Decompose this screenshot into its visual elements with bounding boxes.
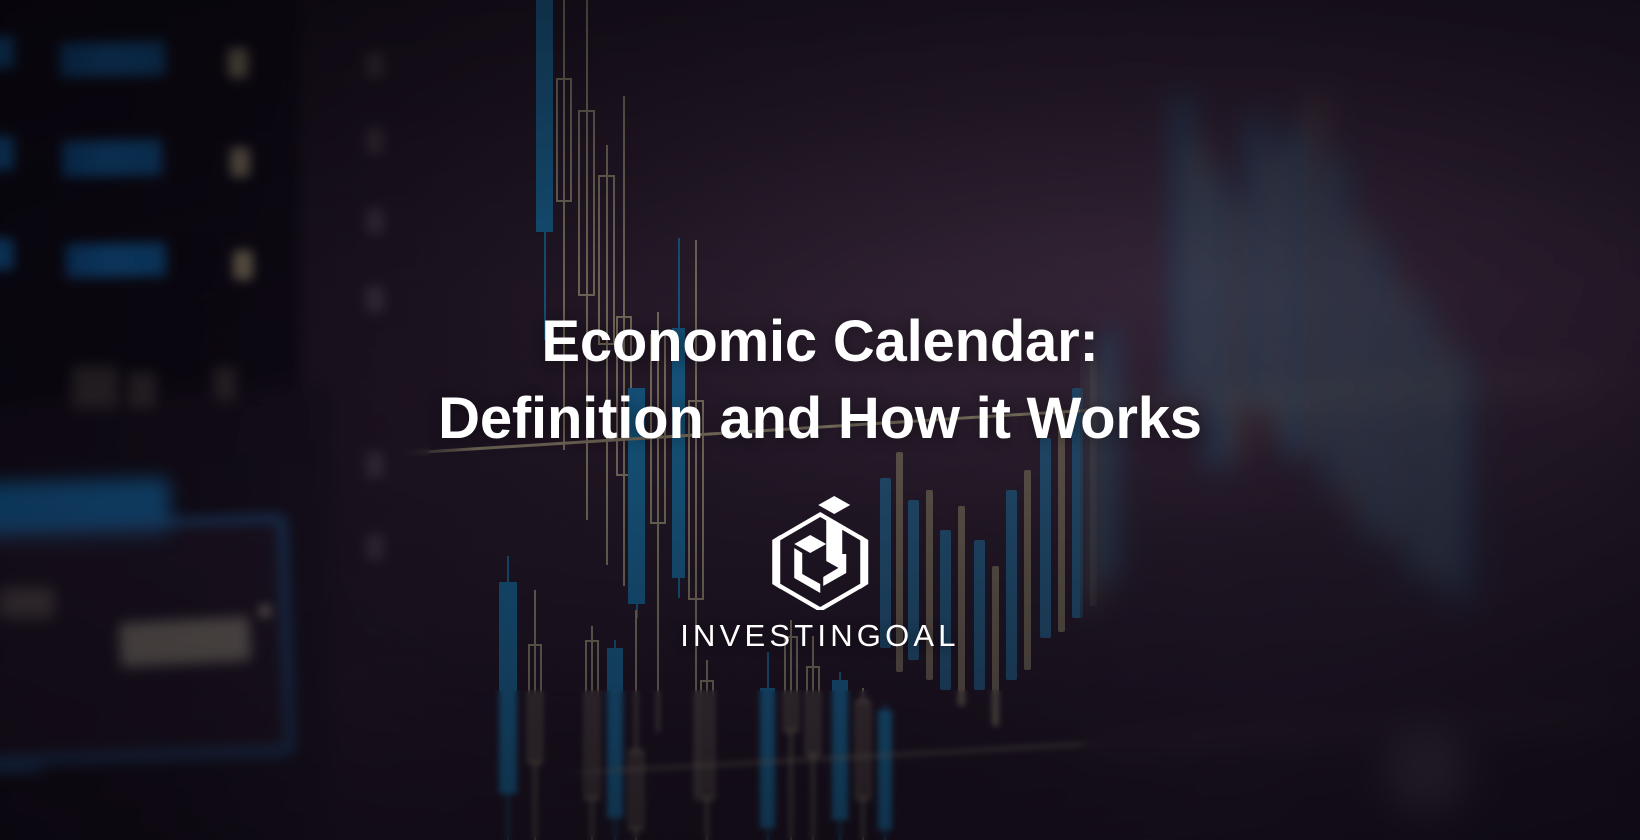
page-title-line-2: Definition and How it Works	[438, 381, 1202, 458]
page-title-line-1: Economic Calendar:	[438, 304, 1202, 381]
hero-content: Economic Calendar: Definition and How it…	[0, 0, 1640, 840]
hero-banner: Economic Calendar: Definition and How it…	[0, 0, 1640, 840]
page-title: Economic Calendar: Definition and How it…	[438, 304, 1202, 457]
